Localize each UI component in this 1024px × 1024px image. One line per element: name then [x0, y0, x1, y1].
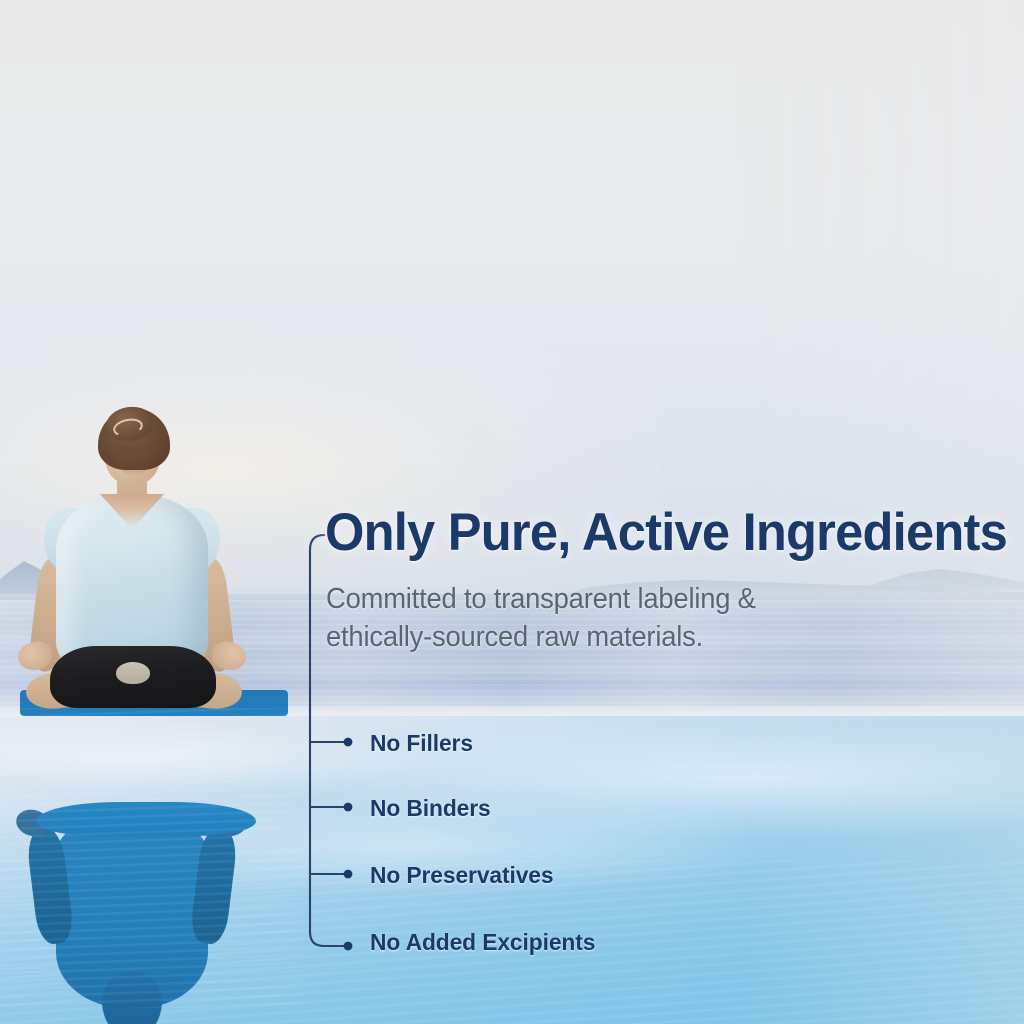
feature-list: No Fillers No Binders No Preservatives N… [300, 480, 1024, 980]
list-item: No Added Excipients [370, 929, 595, 956]
reflection-legs [36, 802, 256, 836]
reflection-head [102, 972, 162, 1024]
meditating-woman [0, 390, 300, 715]
list-item: No Binders [370, 795, 491, 822]
text-panel: Only Pure, Active Ingredients Committed … [300, 480, 1024, 980]
list-item: No Fillers [370, 730, 473, 757]
list-item: No Preservatives [370, 862, 553, 889]
hair-nape [119, 446, 149, 476]
shorts-drawstring [116, 662, 150, 684]
promo-banner: Only Pure, Active Ingredients Committed … [0, 0, 1024, 1024]
